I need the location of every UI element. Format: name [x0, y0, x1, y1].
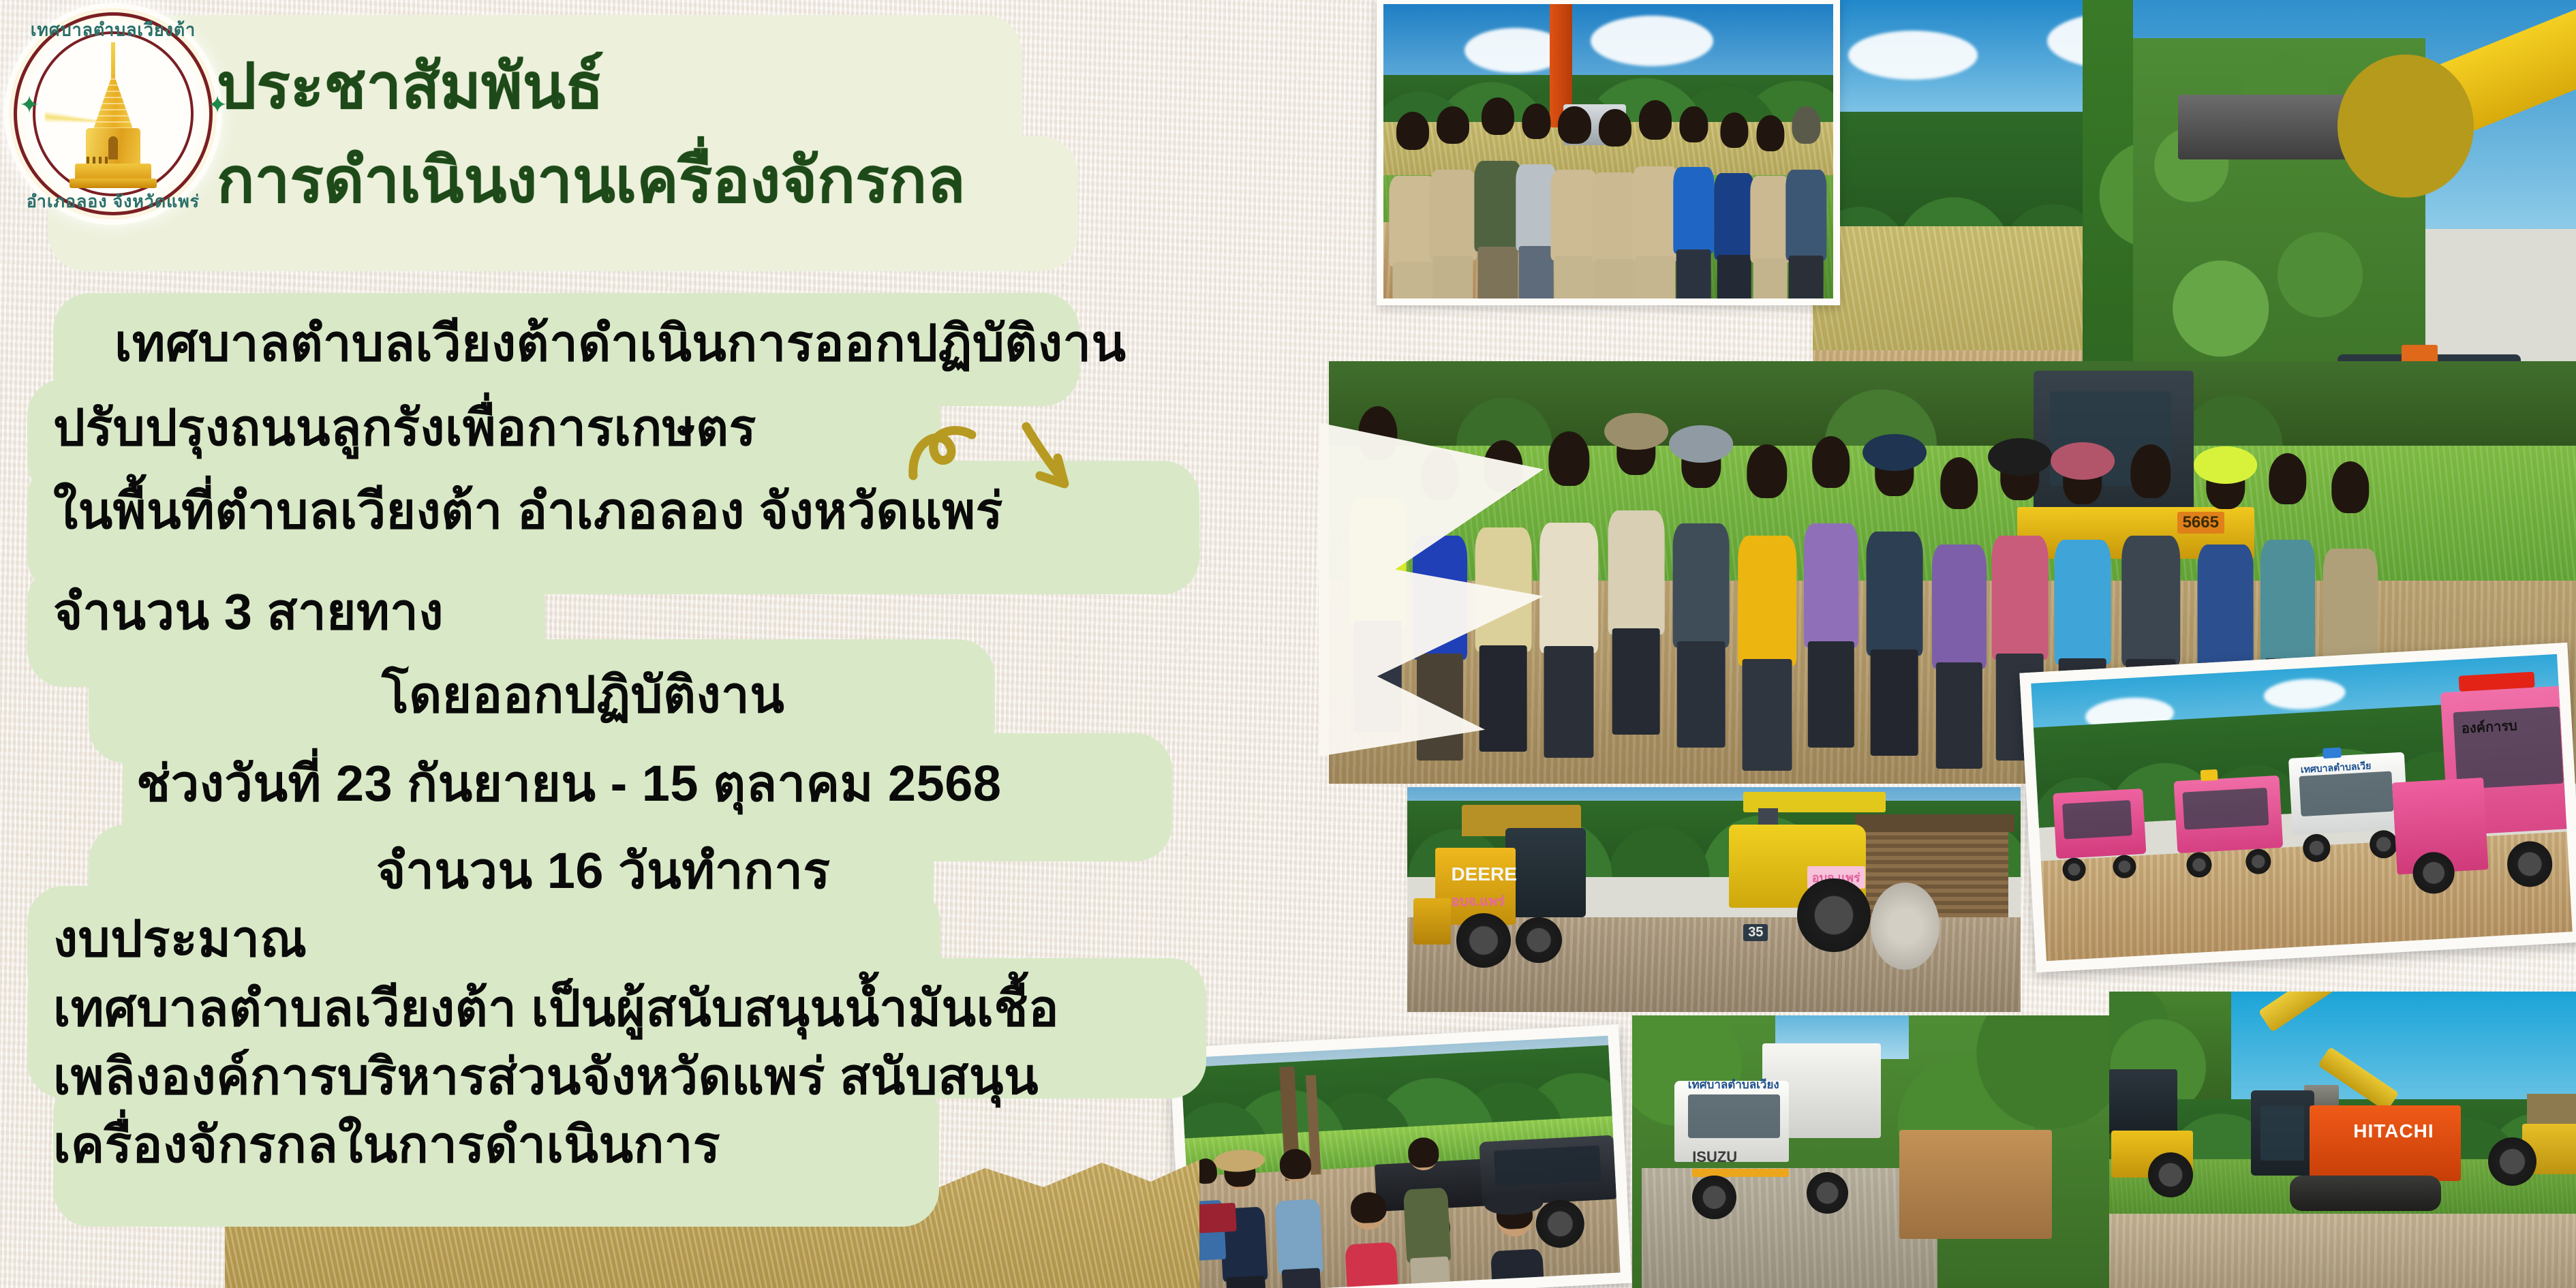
pink-water-trucks-photo: เทศบาลตำบลเวีย องค์การบ — [2019, 643, 2576, 972]
municipality-seal-logo: เทศบาลตำบลเวียงต้า อำเภอลอง จังหวัดแพร่ … — [4, 3, 222, 225]
officials-group-photo — [1377, 0, 1840, 305]
roller-number: 35 — [1743, 924, 1768, 941]
body-text-line7: จำนวน 16 วันทำการ — [376, 830, 831, 910]
golden-pagoda-icon — [69, 37, 157, 187]
body-text-line6: ช่วงวันที่ 23 กันยายน - 15 ตุลาคม 2568 — [136, 743, 1002, 823]
grader-roller-photo: DEERE อบจ.แพร่ อบจ.แพร่ 35 — [1407, 787, 2021, 1012]
mustard-ellipse-decoration — [2337, 55, 2474, 198]
men-by-pickup-photo — [1169, 1024, 1632, 1288]
deere-brand: DEERE — [1451, 863, 1516, 885]
body-text-line11: เครื่องจักรกลในการดำเนินการ — [53, 1104, 720, 1184]
body-text-line5: โดยออกปฏิบัติงาน — [382, 654, 784, 735]
isuzu-brand: ISUZU — [1692, 1148, 1737, 1166]
seal-bottom-text: อำเภอลอง จังหวัดแพร่ — [4, 188, 222, 215]
isuzu-dump-truck-photo: เทศบาลตำบลเวียง ISUZU — [1632, 1015, 2109, 1288]
page-title-line2: การดำเนินงานเครื่องจักรกล — [217, 129, 966, 230]
body-text-line1: เทศบาลตำบลเวียงต้าดำเนินการออกปฏิบัติงาน — [114, 303, 1126, 383]
curved-down-arrow-icon — [906, 408, 1097, 503]
body-text-line2: ปรับปรุงถนนลูกรังเพื่อการเกษตร — [53, 387, 756, 467]
agency-mark-grader: อบจ.แพร่ — [1451, 890, 1505, 912]
body-text-line4: จำนวน 3 สายทาง — [53, 571, 444, 651]
hitachi-brand: HITACHI — [2353, 1120, 2434, 1142]
body-text-line8: งบประมาณ — [53, 898, 307, 979]
dumptruck-text: เทศบาลตำบลเวียง — [1688, 1075, 1779, 1094]
pink-truck-text: องค์การบ — [2461, 714, 2518, 739]
hitachi-excavator-photo: HITACHI — [2109, 992, 2576, 1288]
body-text-line3: ในพื้นที่ตำบลเวียงต้า อำเภอลอง จังหวัดแพ… — [53, 470, 1003, 551]
page-title-line1: ประชาสัมพันธ์ — [217, 35, 604, 136]
